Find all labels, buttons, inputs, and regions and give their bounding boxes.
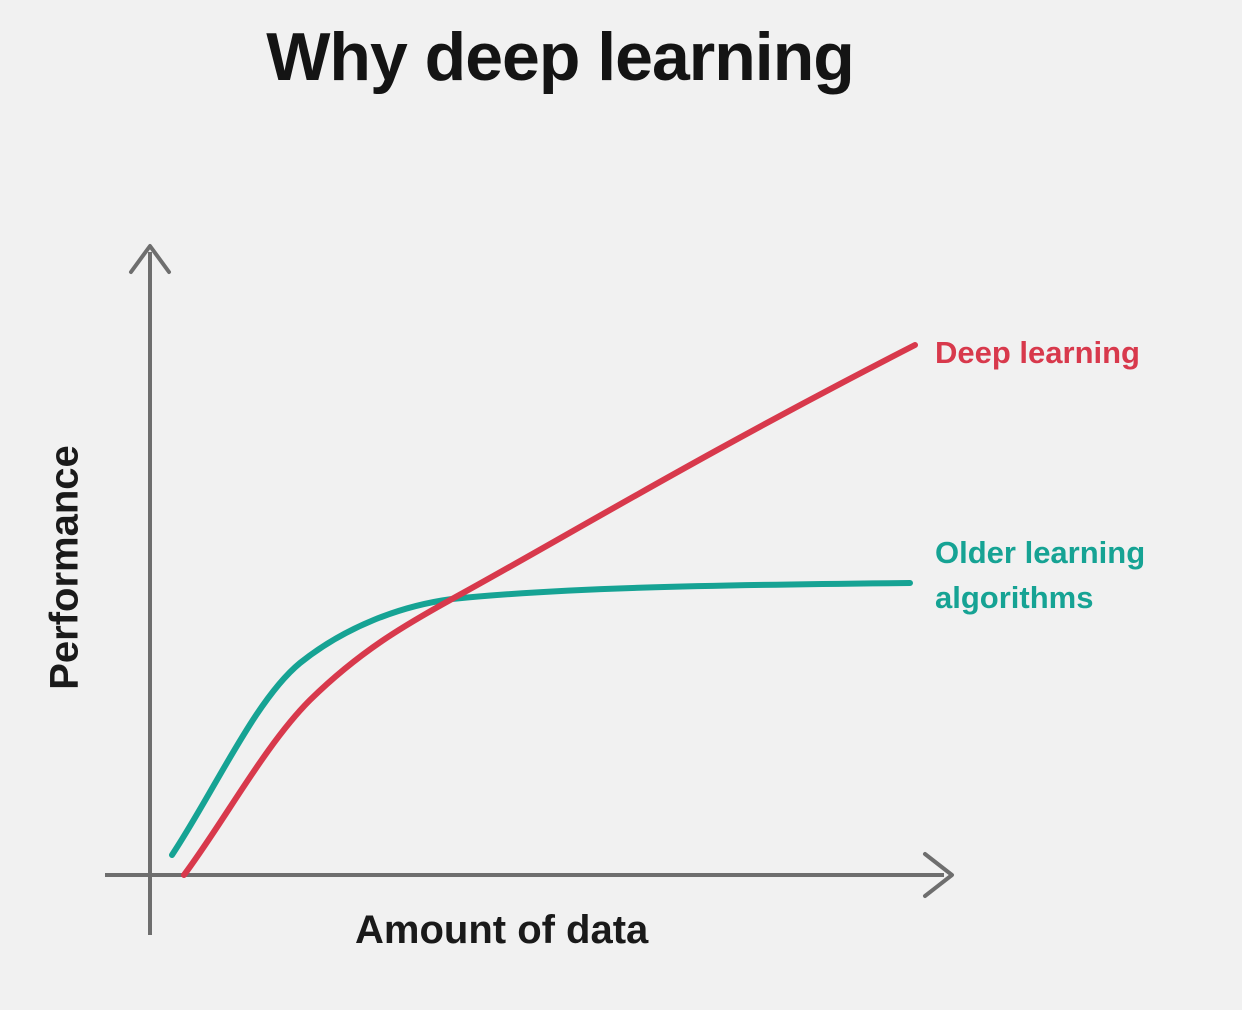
series-line-deep-learning <box>184 345 915 875</box>
series-line-older-algorithms <box>172 583 910 855</box>
chart-figure: Why deep learning Performance Amount of … <box>0 0 1242 1010</box>
series-label-older-algorithms: Older learning algorithms <box>935 531 1145 621</box>
series-label-older-line-2: algorithms <box>935 576 1145 621</box>
plot-area <box>0 0 1242 1010</box>
y-axis-label: Performance <box>43 438 88 698</box>
series-label-deep-learning: Deep learning <box>935 331 1140 376</box>
series-label-older-line-1: Older learning <box>935 531 1145 576</box>
x-axis-label: Amount of data <box>355 908 648 953</box>
